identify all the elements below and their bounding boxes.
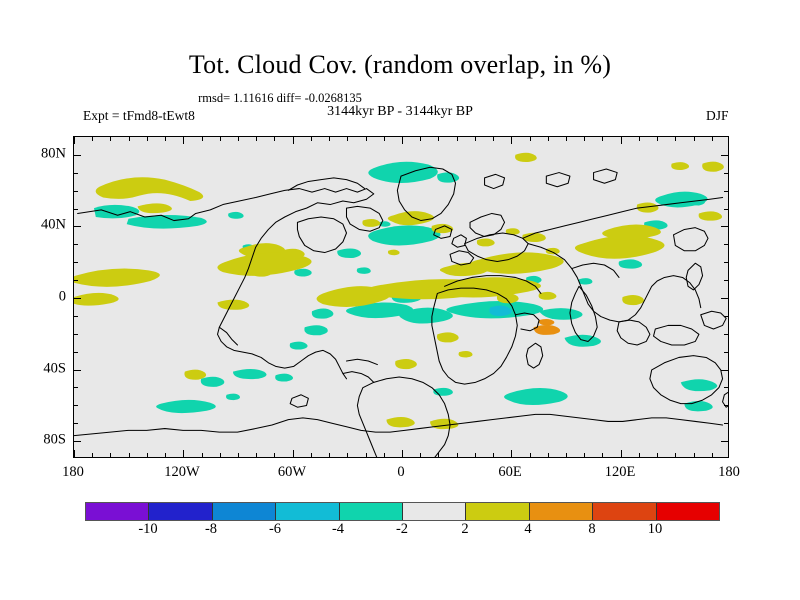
x-tick-top-minor	[548, 136, 549, 141]
x-tick-minor	[566, 453, 567, 458]
colorbar-tick-label: -2	[396, 521, 408, 538]
x-tick-top-major	[728, 136, 729, 144]
y-tick-major	[73, 441, 81, 442]
x-tick-top-minor	[457, 136, 458, 141]
x-tick-top-minor	[694, 136, 695, 141]
y-axis-label: 40N	[24, 217, 66, 234]
x-axis-label: 120E	[605, 464, 636, 481]
colorbar-segment-1	[148, 503, 211, 520]
x-tick-top-minor	[129, 136, 130, 141]
x-tick-top-minor	[420, 136, 421, 141]
y-tick-minor	[73, 423, 78, 424]
x-tick-top-minor	[92, 136, 93, 141]
x-tick-minor	[384, 453, 385, 458]
colorbar-segment-5	[402, 503, 465, 520]
x-tick-minor	[530, 453, 531, 458]
x-tick-top-major	[511, 136, 512, 144]
x-tick-top-minor	[220, 136, 221, 141]
x-tick-top-major	[621, 136, 622, 144]
x-tick-top-major	[293, 136, 294, 144]
x-tick-top-minor	[347, 136, 348, 141]
x-tick-top-minor	[639, 136, 640, 141]
x-tick-top-minor	[274, 136, 275, 141]
colorbar-segment-8	[592, 503, 655, 520]
y-tick-minor	[73, 244, 78, 245]
y-tick-right-major	[721, 155, 729, 156]
x-tick-top-minor	[475, 136, 476, 141]
y-tick-right-minor	[724, 209, 729, 210]
x-tick-top-minor	[530, 136, 531, 141]
y-tick-minor	[73, 191, 78, 192]
y-tick-minor	[73, 387, 78, 388]
y-tick-right-minor	[724, 423, 729, 424]
y-tick-major	[73, 298, 81, 299]
x-tick-minor	[457, 453, 458, 458]
y-tick-right-minor	[724, 262, 729, 263]
map-plot-area	[73, 136, 729, 458]
y-tick-right-minor	[724, 316, 729, 317]
experiment-label: Expt = tFmd8-tEwt8	[83, 108, 195, 124]
colorbar-segment-4	[339, 503, 402, 520]
x-tick-minor	[639, 453, 640, 458]
x-tick-top-minor	[366, 136, 367, 141]
colorbar-segment-9	[656, 503, 719, 520]
y-tick-right-minor	[724, 191, 729, 192]
x-tick-top-minor	[147, 136, 148, 141]
x-tick-major	[621, 450, 622, 458]
x-tick-minor	[347, 453, 348, 458]
y-axis-label: 80N	[24, 146, 66, 163]
y-tick-right-major	[721, 226, 729, 227]
x-tick-minor	[657, 453, 658, 458]
x-tick-minor	[420, 453, 421, 458]
x-tick-top-minor	[256, 136, 257, 141]
x-tick-top-minor	[438, 136, 439, 141]
colorbar-tick-label: -6	[269, 521, 281, 538]
x-tick-major	[728, 450, 729, 458]
x-axis-label: 60W	[278, 464, 306, 481]
x-tick-minor	[675, 453, 676, 458]
y-tick-right-major	[721, 441, 729, 442]
x-tick-top-minor	[584, 136, 585, 141]
x-tick-minor	[220, 453, 221, 458]
season-label: DJF	[706, 108, 729, 124]
world-map-canvas	[74, 137, 728, 457]
x-tick-top-major	[74, 136, 75, 144]
x-axis-label: 60E	[498, 464, 521, 481]
colorbar-tick-label: 10	[648, 521, 663, 538]
colorbar-segment-3	[275, 503, 338, 520]
x-tick-top-minor	[657, 136, 658, 141]
x-tick-top-minor	[165, 136, 166, 141]
colorbar-segment-7	[529, 503, 592, 520]
x-tick-minor	[438, 453, 439, 458]
x-tick-top-minor	[712, 136, 713, 141]
y-axis-label: 40S	[24, 361, 66, 378]
y-tick-right-minor	[724, 173, 729, 174]
page-title: Tot. Cloud Cov. (random overlap, in %)	[0, 50, 800, 80]
x-tick-top-major	[402, 136, 403, 144]
y-tick-minor	[73, 280, 78, 281]
y-tick-right-minor	[724, 334, 729, 335]
y-tick-minor	[73, 316, 78, 317]
x-axis-label: 180	[718, 464, 740, 481]
colorbar-tick-label: -8	[205, 521, 217, 538]
y-tick-minor	[73, 352, 78, 353]
y-tick-right-major	[721, 298, 729, 299]
y-axis-label: 0	[24, 289, 66, 306]
positive-band-2to4	[74, 153, 724, 429]
y-tick-major	[73, 155, 81, 156]
x-tick-minor	[256, 453, 257, 458]
x-tick-top-minor	[311, 136, 312, 141]
x-tick-minor	[202, 453, 203, 458]
x-tick-top-minor	[602, 136, 603, 141]
x-tick-minor	[475, 453, 476, 458]
x-axis-label: 0	[397, 464, 404, 481]
y-tick-right-minor	[724, 244, 729, 245]
x-tick-top-minor	[110, 136, 111, 141]
y-tick-minor	[73, 405, 78, 406]
colorbar-tick-label: 4	[524, 521, 531, 538]
y-tick-right-major	[721, 370, 729, 371]
x-tick-major	[183, 450, 184, 458]
colorbar-tick-label: -4	[332, 521, 344, 538]
colorbar-segment-2	[212, 503, 275, 520]
colorbar-segment-6	[465, 503, 528, 520]
x-tick-top-minor	[566, 136, 567, 141]
x-tick-minor	[110, 453, 111, 458]
x-tick-major	[402, 450, 403, 458]
y-tick-right-minor	[724, 280, 729, 281]
x-tick-top-minor	[329, 136, 330, 141]
y-tick-minor	[73, 334, 78, 335]
x-tick-minor	[366, 453, 367, 458]
y-tick-major	[73, 370, 81, 371]
x-tick-minor	[694, 453, 695, 458]
x-axis-label: 120W	[164, 464, 199, 481]
y-tick-minor	[73, 173, 78, 174]
x-tick-minor	[274, 453, 275, 458]
x-tick-minor	[129, 453, 130, 458]
x-tick-major	[293, 450, 294, 458]
colorbar-segment-0	[86, 503, 148, 520]
x-tick-minor	[584, 453, 585, 458]
x-tick-minor	[92, 453, 93, 458]
x-tick-minor	[548, 453, 549, 458]
climate-map-figure: Tot. Cloud Cov. (random overlap, in %) r…	[0, 0, 800, 600]
y-tick-minor	[73, 262, 78, 263]
colorbar	[85, 502, 720, 521]
x-tick-minor	[329, 453, 330, 458]
x-tick-top-major	[183, 136, 184, 144]
x-tick-major	[74, 450, 75, 458]
x-tick-minor	[493, 453, 494, 458]
anomaly-shading-layer	[74, 153, 724, 429]
x-tick-minor	[311, 453, 312, 458]
x-tick-minor	[147, 453, 148, 458]
x-axis-label: 180	[62, 464, 84, 481]
x-tick-minor	[602, 453, 603, 458]
x-tick-top-minor	[238, 136, 239, 141]
y-tick-major	[73, 226, 81, 227]
x-tick-top-minor	[384, 136, 385, 141]
x-tick-top-minor	[493, 136, 494, 141]
y-tick-minor	[73, 209, 78, 210]
colorbar-tick-label: 8	[588, 521, 595, 538]
x-tick-minor	[238, 453, 239, 458]
y-tick-right-minor	[724, 352, 729, 353]
x-tick-major	[511, 450, 512, 458]
colorbar-tick-label: -10	[138, 521, 157, 538]
y-tick-right-minor	[724, 387, 729, 388]
colorbar-tick-label: 2	[461, 521, 468, 538]
x-tick-minor	[712, 453, 713, 458]
x-tick-top-minor	[202, 136, 203, 141]
x-tick-minor	[165, 453, 166, 458]
x-tick-top-minor	[675, 136, 676, 141]
y-axis-label: 80S	[24, 432, 66, 449]
y-tick-right-minor	[724, 405, 729, 406]
